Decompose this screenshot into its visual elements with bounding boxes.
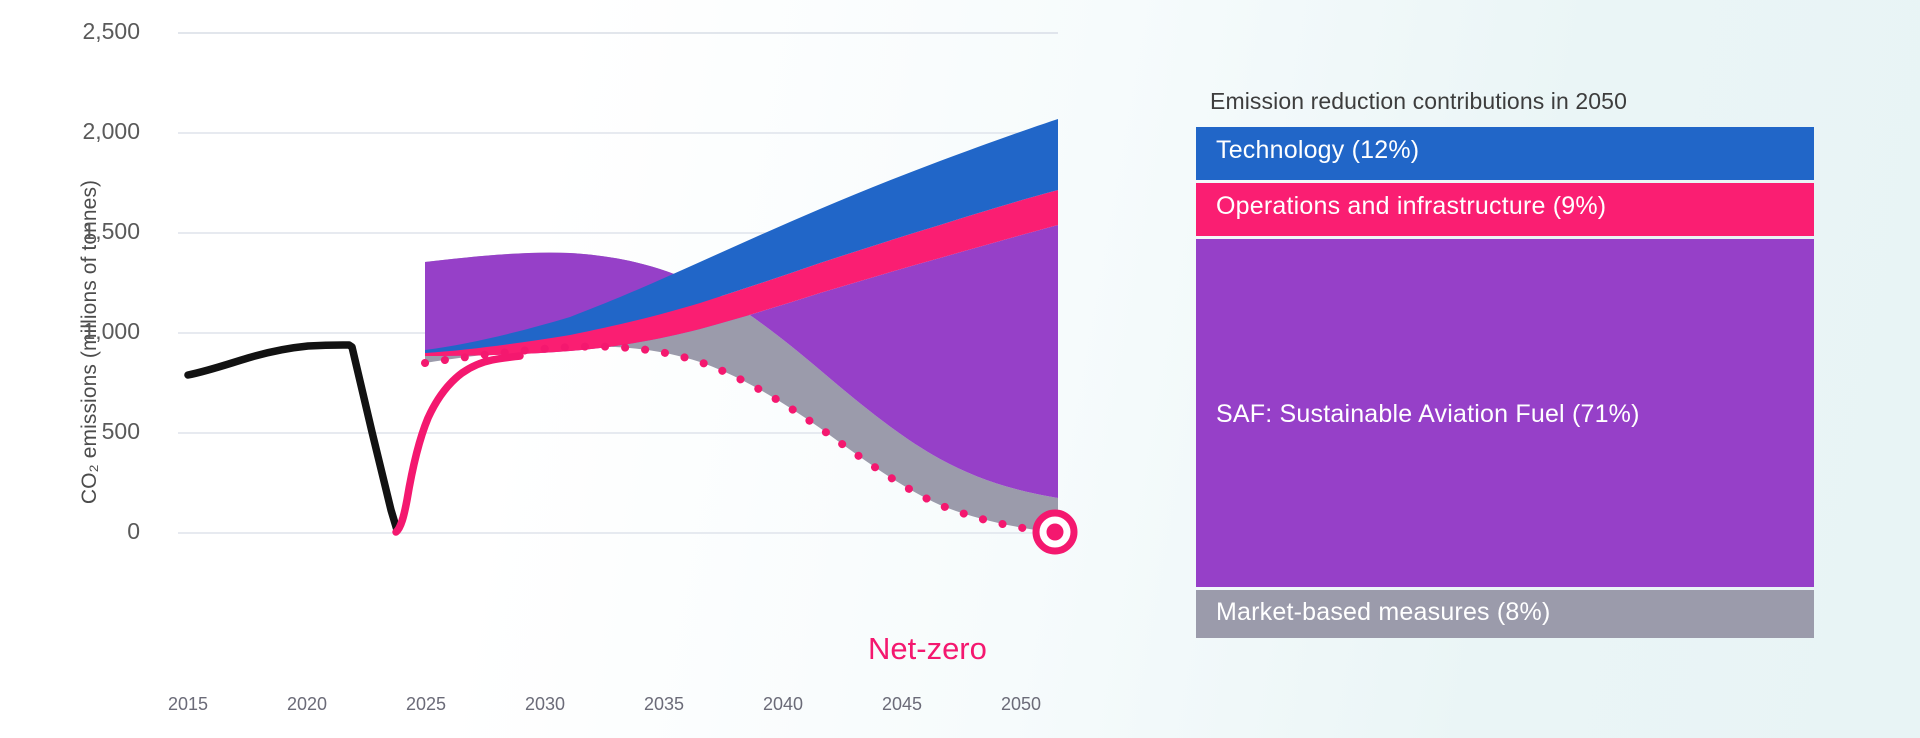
x-tick-2025: 2025 <box>381 694 471 715</box>
chart-plot-region: CO₂ emissions (millions of tonnes) 2,500… <box>0 0 1180 738</box>
legend-title: Emission reduction contributions in 2050 <box>1210 88 1814 115</box>
legend-label-operations-infrastructure: Operations and infrastructure (9%) <box>1216 192 1606 221</box>
x-tick-2015: 2015 <box>143 694 233 715</box>
legend-item-operations-infrastructure[interactable]: Operations and infrastructure (9%) <box>1196 183 1814 236</box>
chart-figure: CO₂ emissions (millions of tonnes) 2,500… <box>0 0 1920 738</box>
legend-label-technology: Technology (12%) <box>1216 136 1419 165</box>
legend-panel: Emission reduction contributions in 2050… <box>1196 88 1814 638</box>
x-tick-2035: 2035 <box>619 694 709 715</box>
x-tick-2020: 2020 <box>262 694 352 715</box>
legend-item-market-based-measures[interactable]: Market-based measures (8%) <box>1196 590 1814 638</box>
recovery-emissions-line <box>396 356 520 532</box>
net-zero-target-marker <box>1035 512 1075 552</box>
legend-label-saf: SAF: Sustainable Aviation Fuel (71%) <box>1216 400 1640 429</box>
legend-item-technology[interactable]: Technology (12%) <box>1196 127 1814 180</box>
x-tick-2045: 2045 <box>857 694 947 715</box>
chart-svg <box>0 0 1180 738</box>
legend-item-saf[interactable]: SAF: Sustainable Aviation Fuel (71%) <box>1196 239 1814 587</box>
x-tick-2050: 2050 <box>976 694 1066 715</box>
x-tick-2040: 2040 <box>738 694 828 715</box>
legend-band-stack: Technology (12%) Operations and infrastr… <box>1196 127 1814 638</box>
net-zero-annotation: Net-zero <box>868 631 987 667</box>
legend-label-market-based-measures: Market-based measures (8%) <box>1216 598 1551 627</box>
x-tick-2030: 2030 <box>500 694 590 715</box>
historical-emissions-line <box>188 345 397 530</box>
